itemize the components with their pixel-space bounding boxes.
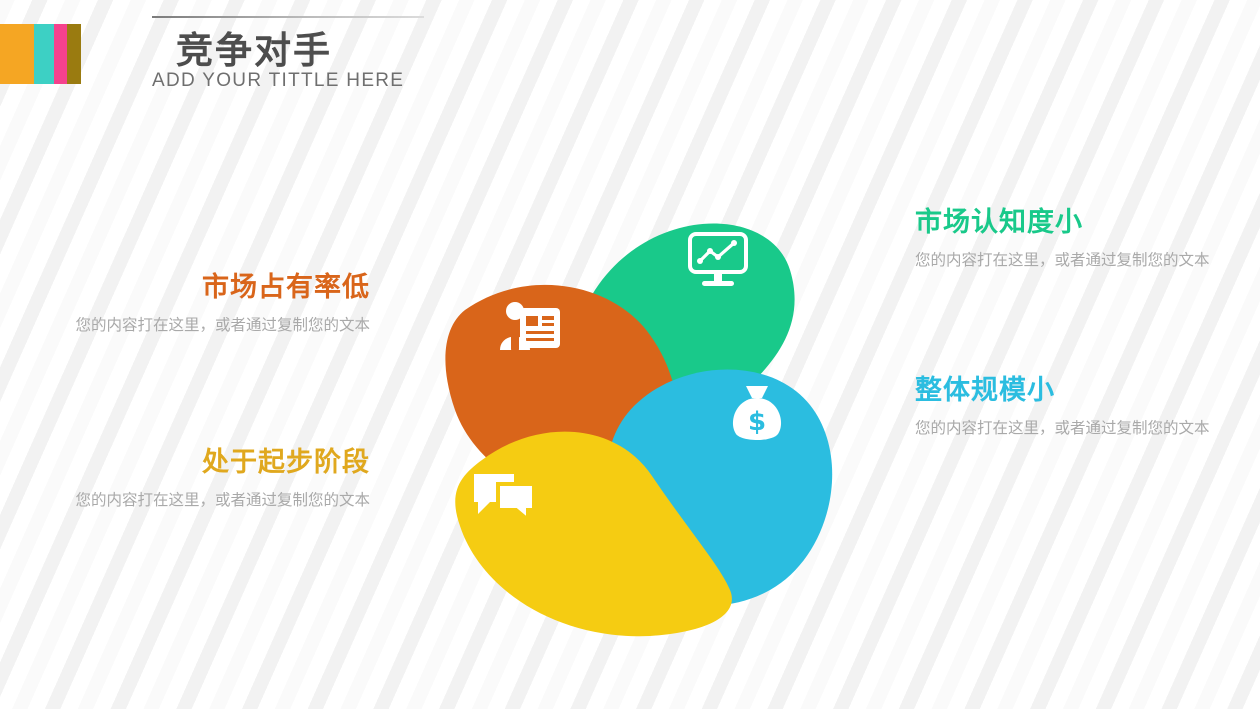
color-bar-pink [54, 24, 67, 84]
page-subtitle: ADD YOUR TITTLE HERE [152, 70, 404, 92]
block-desc-market-awareness: 您的内容打在这里，或者通过复制您的文本 [915, 248, 1225, 273]
block-desc-overall-scale: 您的内容打在这里，或者通过复制您的文本 [915, 416, 1225, 441]
block-title-overall-scale: 整体规模小 [915, 368, 1225, 407]
header-rule [152, 16, 424, 18]
header-color-bars [0, 24, 81, 84]
block-market-awareness: 市场认知度小 您的内容打在这里，或者通过复制您的文本 [915, 200, 1225, 273]
page-title: 竞争对手 [176, 20, 332, 74]
block-startup-stage: 处于起步阶段 您的内容打在这里，或者通过复制您的文本 [60, 440, 370, 513]
block-title-startup-stage: 处于起步阶段 [60, 440, 370, 479]
block-overall-scale: 整体规模小 您的内容打在这里，或者通过复制您的文本 [915, 368, 1225, 441]
monitor-chart-icon [688, 232, 750, 290]
block-title-market-awareness: 市场认知度小 [915, 200, 1225, 239]
petal-diagram: $ [420, 170, 850, 640]
color-bar-orange [0, 24, 34, 84]
svg-text:$: $ [748, 407, 766, 437]
block-market-share: 市场占有率低 您的内容打在这里，或者通过复制您的文本 [60, 265, 370, 338]
chat-bubbles-icon [470, 470, 538, 522]
slide-canvas: 竞争对手 ADD YOUR TITTLE HERE [0, 0, 1260, 709]
petal-icon-layer: $ [420, 170, 850, 640]
block-desc-market-share: 您的内容打在这里，或者通过复制您的文本 [60, 313, 370, 338]
color-bar-teal [34, 24, 54, 84]
id-card-icon [498, 298, 564, 356]
block-desc-startup-stage: 您的内容打在这里，或者通过复制您的文本 [60, 488, 370, 513]
block-title-market-share: 市场占有率低 [60, 265, 370, 304]
money-bag-icon: $ [728, 382, 786, 444]
color-bar-gold [67, 24, 81, 84]
